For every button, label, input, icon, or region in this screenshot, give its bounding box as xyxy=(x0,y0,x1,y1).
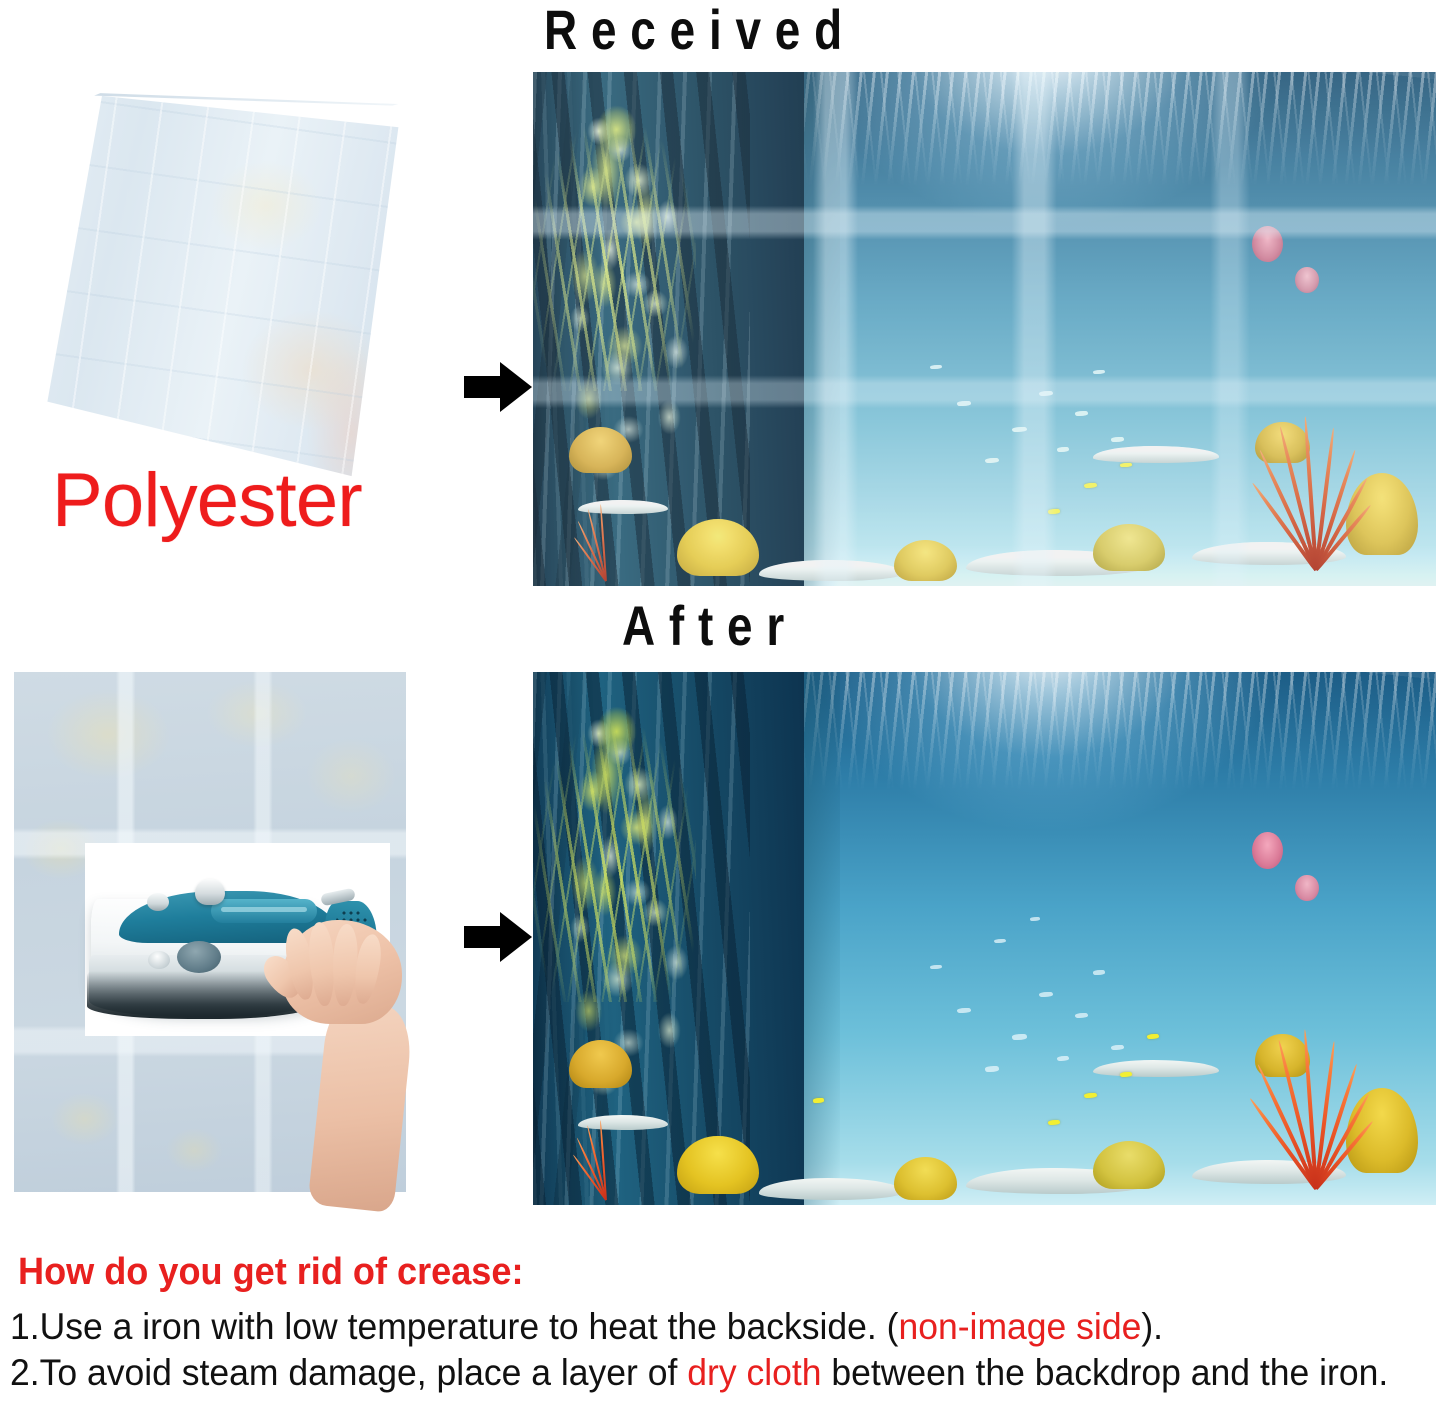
iron-spray-button xyxy=(148,951,170,969)
section-title-received: Received xyxy=(470,2,929,58)
iron-handle-highlight xyxy=(221,907,307,912)
sea-fronds xyxy=(533,72,696,391)
fish xyxy=(1111,1045,1124,1050)
fish xyxy=(957,401,971,406)
rock-shelf xyxy=(1093,1060,1219,1077)
fish xyxy=(1039,391,1053,396)
fish xyxy=(1012,1034,1027,1039)
pink-coral xyxy=(1252,832,1283,869)
rock-shelf xyxy=(1093,446,1219,462)
pink-coral xyxy=(1295,267,1318,293)
arrow-head xyxy=(500,912,532,962)
red-coral-small xyxy=(569,504,641,581)
care-line-2-highlight: dry cloth xyxy=(687,1352,821,1393)
care-line-1-highlight: non-image side xyxy=(898,1306,1141,1347)
forearm xyxy=(308,1000,415,1213)
arrow-shaft xyxy=(464,926,504,948)
care-instructions-heading: How do you get rid of crease: xyxy=(18,1252,523,1294)
arrow-shaft xyxy=(464,376,504,398)
pink-coral xyxy=(1252,226,1283,262)
care-instruction-line-1: 1.Use a iron with low temperature to hea… xyxy=(10,1306,1163,1347)
fish-yellow xyxy=(813,1098,824,1102)
iron-steam-knob xyxy=(195,879,225,905)
fish xyxy=(994,939,1007,943)
red-coral-small xyxy=(569,1120,641,1200)
red-coral xyxy=(1246,1029,1381,1189)
fish xyxy=(1012,427,1027,432)
fish xyxy=(957,1008,971,1013)
fish xyxy=(985,458,999,463)
fish-yellow xyxy=(1048,1120,1061,1125)
fish xyxy=(1057,1056,1070,1061)
arrow-right-icon xyxy=(464,362,534,412)
rock-shelf xyxy=(759,1178,903,1199)
care-line-1-prefix: 1.Use a iron with low temperature to hea… xyxy=(10,1306,898,1347)
arrow-right-icon xyxy=(464,912,534,962)
iron-control-knob xyxy=(147,893,169,911)
fish-yellow xyxy=(1048,509,1061,514)
sea-fronds xyxy=(533,672,696,1002)
fish xyxy=(1111,437,1124,442)
fish xyxy=(1093,970,1105,974)
care-line-1-suffix: ). xyxy=(1141,1306,1163,1347)
after-backdrop-image xyxy=(533,672,1436,1205)
fish-yellow xyxy=(1120,1072,1132,1077)
iron-temperature-dial xyxy=(177,941,221,973)
material-label-polyester: Polyester xyxy=(52,463,362,539)
folded-fabric-photo xyxy=(24,88,414,480)
pink-coral xyxy=(1295,875,1318,902)
arrow-head xyxy=(500,362,532,412)
section-title-after: After xyxy=(554,598,866,654)
care-line-2-prefix: 2.To avoid steam damage, place a layer o… xyxy=(10,1352,687,1393)
care-line-2-suffix: between the backdrop and the iron. xyxy=(822,1352,1389,1393)
received-backdrop-image xyxy=(533,72,1436,586)
hand-holding-iron xyxy=(246,920,426,1205)
fish xyxy=(985,1066,999,1071)
fabric-fold-lines xyxy=(24,88,414,480)
rock-shelf xyxy=(759,560,903,581)
red-coral xyxy=(1246,416,1381,570)
care-instruction-line-2: 2.To avoid steam damage, place a layer o… xyxy=(10,1352,1388,1393)
